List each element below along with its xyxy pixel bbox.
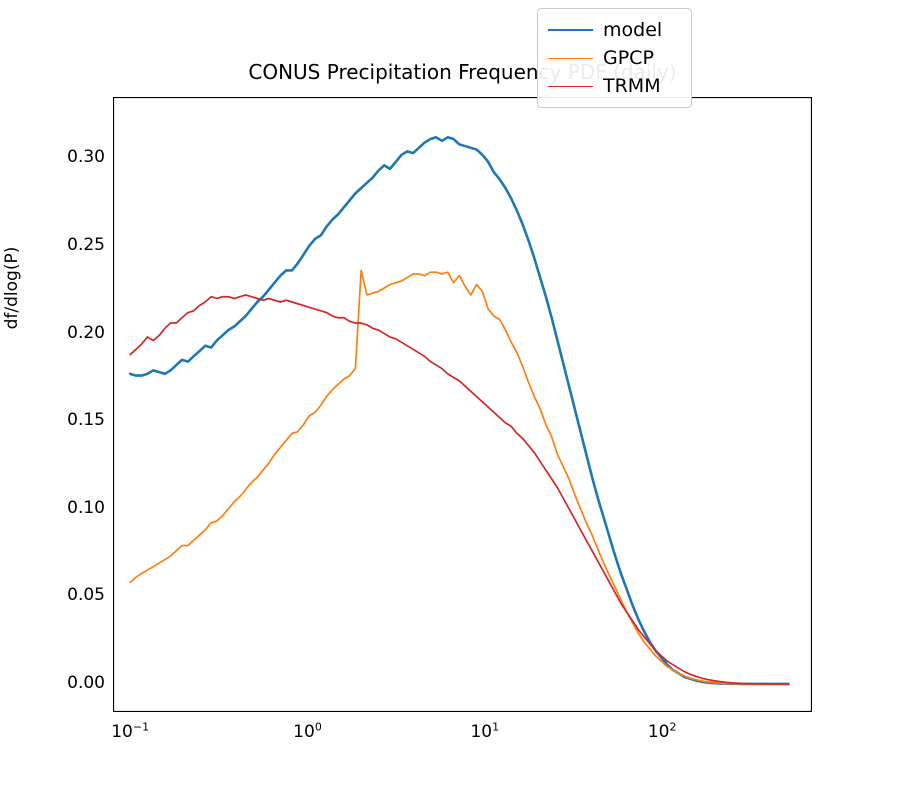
y-axis-label: df/dlog(P) (2, 208, 22, 368)
figure-canvas: CONUS Precipitation Frequency PDF (daily… (0, 0, 900, 800)
plot-area (113, 97, 812, 712)
chart-title: CONUS Precipitation Frequency PDF (daily… (113, 58, 812, 86)
y-tick-label: 0.20 (35, 323, 105, 343)
x-tick-label: 101 (450, 722, 520, 742)
x-tick-label: 102 (627, 722, 697, 742)
y-tick-label: 0.15 (35, 410, 105, 430)
legend-item-model[interactable]: model (538, 16, 691, 44)
legend-item-gpcp[interactable]: GPCP (538, 44, 691, 72)
y-tick-label: 0.10 (35, 498, 105, 518)
legend-swatch-model (548, 29, 593, 31)
legend-box: model GPCP TRMM (537, 8, 692, 108)
y-tick-label: 0.25 (35, 235, 105, 255)
legend-label-trmm: TRMM (603, 75, 661, 97)
axes-frame-svg (113, 97, 812, 712)
y-tick-label: 0.05 (35, 585, 105, 605)
legend-swatch-gpcp (548, 58, 593, 59)
y-tick-label: 0.30 (35, 147, 105, 167)
legend-item-trmm[interactable]: TRMM (538, 72, 691, 100)
legend-label-model: model (603, 19, 662, 41)
y-tick-label: 0.00 (35, 673, 105, 693)
legend-label-gpcp: GPCP (603, 47, 654, 69)
legend-swatch-trmm (548, 86, 593, 87)
x-tick-label: 10−1 (95, 722, 165, 742)
x-tick-label: 100 (273, 722, 343, 742)
